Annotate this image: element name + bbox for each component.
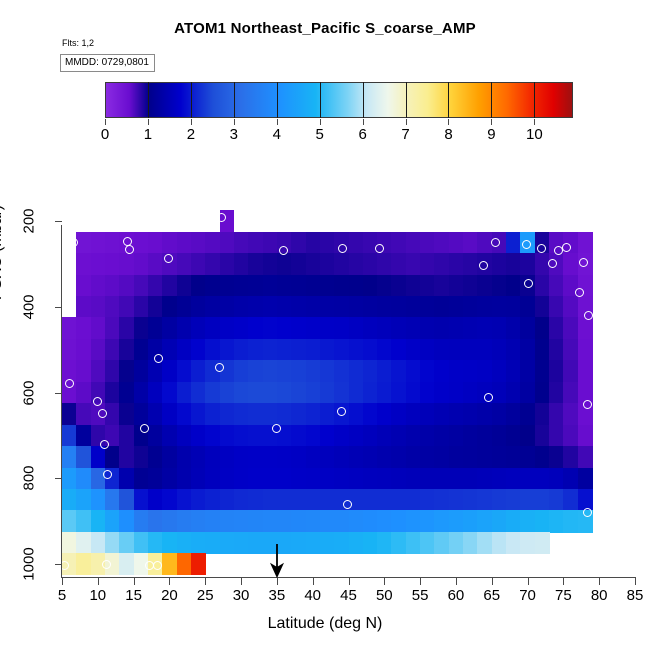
observation-marker [154, 354, 163, 363]
heatmap-cell [91, 360, 106, 382]
heatmap-cell [334, 382, 349, 404]
y-tick [55, 221, 62, 222]
heatmap-cell [62, 317, 77, 339]
heatmap-cell [105, 532, 120, 554]
heatmap-cell [477, 275, 492, 297]
heatmap-cell [234, 510, 249, 532]
y-tick-label: 200 [21, 198, 38, 244]
heatmap-cell [234, 403, 249, 425]
x-tick-label: 10 [89, 587, 106, 604]
heatmap-cell [420, 532, 435, 554]
heatmap-cell [91, 489, 106, 511]
heatmap-cell [363, 253, 378, 275]
heatmap-cell [349, 510, 364, 532]
heatmap-cell [506, 403, 521, 425]
heatmap-cell [434, 403, 449, 425]
heatmap-cell [234, 425, 249, 447]
heatmap-cell [363, 489, 378, 511]
heatmap-cell [578, 232, 593, 254]
heatmap-cell [520, 360, 535, 382]
heatmap-cell [306, 489, 321, 511]
x-tick [313, 578, 314, 585]
heatmap-cell [506, 425, 521, 447]
heatmap-cell [205, 446, 220, 468]
heatmap-cell [105, 510, 120, 532]
heatmap-cell [148, 360, 163, 382]
heatmap-cell [549, 360, 564, 382]
heatmap-cell [549, 489, 564, 511]
heatmap-cell [434, 425, 449, 447]
heatmap-cell [449, 382, 464, 404]
heatmap-cell [320, 403, 335, 425]
heatmap-cell [449, 446, 464, 468]
heatmap-cell [320, 360, 335, 382]
heatmap-cell [578, 425, 593, 447]
heatmap-cell [520, 425, 535, 447]
heatmap-cell [205, 489, 220, 511]
observation-marker [584, 311, 593, 320]
heatmap-cell [177, 553, 192, 575]
heatmap-cell [62, 532, 77, 554]
heatmap-cell [492, 253, 507, 275]
heatmap-cell [177, 275, 192, 297]
heatmap-cell [334, 296, 349, 318]
heatmap-cell [492, 532, 507, 554]
heatmap-cell [349, 403, 364, 425]
heatmap-cell [377, 532, 392, 554]
heatmap-cell [420, 296, 435, 318]
heatmap-cell [234, 253, 249, 275]
heatmap-cell [105, 317, 120, 339]
heatmap-cell [191, 446, 206, 468]
heatmap-cell [91, 317, 106, 339]
heatmap-cell [263, 296, 278, 318]
heatmap-cell [563, 296, 578, 318]
latitude-pointer-arrow [269, 544, 285, 578]
heatmap-cell [291, 232, 306, 254]
heatmap-cell [205, 532, 220, 554]
heatmap-cell [434, 446, 449, 468]
heatmap-cell [234, 360, 249, 382]
heatmap-cell [535, 489, 550, 511]
heatmap-cell [492, 382, 507, 404]
heatmap-cell [234, 489, 249, 511]
heatmap-cell [306, 446, 321, 468]
heatmap-cell [220, 510, 235, 532]
heatmap-cell [477, 317, 492, 339]
heatmap-cell [520, 339, 535, 361]
heatmap-cell [391, 382, 406, 404]
heatmap-cell [377, 339, 392, 361]
heatmap-cell [434, 468, 449, 490]
heatmap-cell [406, 232, 421, 254]
heatmap-cell [535, 339, 550, 361]
heatmap-cell [563, 339, 578, 361]
heatmap-cell [535, 275, 550, 297]
heatmap-cell [549, 275, 564, 297]
heatmap-cell [291, 468, 306, 490]
heatmap-cell [492, 489, 507, 511]
heatmap-cell [220, 253, 235, 275]
heatmap-cell [119, 553, 134, 575]
heatmap-cell [119, 403, 134, 425]
heatmap-cell [91, 232, 106, 254]
heatmap-cell [363, 425, 378, 447]
heatmap-cell [306, 232, 321, 254]
heatmap-cell [492, 339, 507, 361]
x-tick-label: 20 [161, 587, 178, 604]
heatmap-cell [263, 339, 278, 361]
heatmap-cell [406, 468, 421, 490]
heatmap-cell [191, 425, 206, 447]
y-axis-title: PSXC (mbar) [0, 205, 6, 300]
heatmap-cell [105, 446, 120, 468]
heatmap-cell [76, 232, 91, 254]
heatmap-cell [320, 253, 335, 275]
heatmap-cell [506, 468, 521, 490]
heatmap-cell [449, 532, 464, 554]
heatmap-cell [148, 532, 163, 554]
heatmap-cell [134, 253, 149, 275]
x-tick-label: 30 [233, 587, 250, 604]
heatmap-cell [91, 253, 106, 275]
heatmap-cell [76, 339, 91, 361]
heatmap-cell [205, 253, 220, 275]
heatmap-cell [105, 232, 120, 254]
observation-marker [69, 238, 78, 247]
heatmap-cell [306, 275, 321, 297]
heatmap-cell [320, 296, 335, 318]
heatmap-cell [449, 360, 464, 382]
heatmap-cell [320, 510, 335, 532]
heatmap-cell [578, 446, 593, 468]
heatmap-cell [406, 339, 421, 361]
heatmap-cell [563, 253, 578, 275]
heatmap-cell [349, 296, 364, 318]
heatmap-cell [549, 468, 564, 490]
heatmap-cell [420, 446, 435, 468]
heatmap-cell [420, 232, 435, 254]
heatmap-cell [148, 275, 163, 297]
observation-marker [375, 244, 384, 253]
y-tick [55, 478, 62, 479]
heatmap-cell [434, 489, 449, 511]
heatmap-cell [306, 403, 321, 425]
heatmap-cell [119, 339, 134, 361]
heatmap-cell [62, 446, 77, 468]
heatmap-cell [449, 296, 464, 318]
heatmap-cell [434, 510, 449, 532]
heatmap-cell [477, 446, 492, 468]
heatmap-cell [349, 468, 364, 490]
heatmap-cell [320, 382, 335, 404]
observation-marker [164, 254, 173, 263]
heatmap-cell [535, 468, 550, 490]
heatmap-cell [391, 253, 406, 275]
heatmap-cell [177, 232, 192, 254]
heatmap-cell [506, 296, 521, 318]
heatmap-cell [449, 468, 464, 490]
observation-marker [579, 258, 588, 267]
heatmap-cell [492, 275, 507, 297]
heatmap-cell [220, 532, 235, 554]
heatmap-cell [119, 317, 134, 339]
heatmap-cell [76, 360, 91, 382]
heatmap-cell [177, 468, 192, 490]
heatmap-cell [191, 275, 206, 297]
heatmap-cell [463, 468, 478, 490]
heatmap-cell [162, 510, 177, 532]
heatmap-cell [391, 275, 406, 297]
heatmap-cell [248, 446, 263, 468]
heatmap-cell [477, 425, 492, 447]
heatmap-cell [134, 317, 149, 339]
x-tick-label: 50 [376, 587, 393, 604]
heatmap-cell [492, 360, 507, 382]
heatmap-cell [191, 553, 206, 575]
heatmap-cell [463, 339, 478, 361]
heatmap-cell [391, 360, 406, 382]
heatmap-cell [162, 425, 177, 447]
heatmap-cell [277, 468, 292, 490]
heatmap-cell [191, 317, 206, 339]
heatmap-cell [263, 489, 278, 511]
heatmap-cell [463, 510, 478, 532]
heatmap-cell [162, 275, 177, 297]
heatmap-cell [406, 532, 421, 554]
heatmap-cell [349, 382, 364, 404]
heatmap-cell [420, 425, 435, 447]
heatmap-cell [463, 253, 478, 275]
x-tick [492, 578, 493, 585]
heatmap-cell [463, 425, 478, 447]
heatmap-cell [205, 232, 220, 254]
heatmap-cell [563, 360, 578, 382]
heatmap-cell [277, 296, 292, 318]
heatmap-cell [191, 489, 206, 511]
y-tick-label: 800 [21, 455, 38, 501]
heatmap-cell [263, 468, 278, 490]
x-tick-label: 55 [412, 587, 429, 604]
heatmap-cell [477, 510, 492, 532]
heatmap-cell [234, 468, 249, 490]
heatmap-cell [263, 382, 278, 404]
heatmap-cell [76, 553, 91, 575]
heatmap-cell [291, 339, 306, 361]
heatmap-cell [463, 446, 478, 468]
heatmap-cell [220, 382, 235, 404]
heatmap-cell [119, 510, 134, 532]
heatmap-cell [549, 403, 564, 425]
heatmap-cell [277, 360, 292, 382]
heatmap-cell [234, 532, 249, 554]
heatmap-cell [349, 339, 364, 361]
heatmap-cell [406, 489, 421, 511]
observation-marker [103, 470, 112, 479]
heatmap-cell [191, 532, 206, 554]
heatmap-cell [76, 446, 91, 468]
x-tick [635, 578, 636, 585]
heatmap-cell [320, 446, 335, 468]
heatmap-cell [535, 403, 550, 425]
heatmap-cell [334, 510, 349, 532]
heatmap-cell [277, 339, 292, 361]
heatmap-cell [148, 446, 163, 468]
heatmap-cell [463, 532, 478, 554]
heatmap-cell [334, 360, 349, 382]
heatmap-cell [506, 360, 521, 382]
heatmap-cell [191, 253, 206, 275]
heatmap-cell [91, 339, 106, 361]
heatmap-cell [277, 403, 292, 425]
heatmap-cell [520, 253, 535, 275]
heatmap-cell [134, 446, 149, 468]
heatmap-cell [76, 532, 91, 554]
heatmap-cell [220, 275, 235, 297]
heatmap-cell [463, 296, 478, 318]
heatmap-cell [248, 253, 263, 275]
heatmap-cell [477, 360, 492, 382]
heatmap-cell [119, 468, 134, 490]
x-tick-label: 75 [555, 587, 572, 604]
heatmap-cell [520, 296, 535, 318]
heatmap-cell [177, 403, 192, 425]
heatmap-cell [91, 275, 106, 297]
heatmap-cell [520, 468, 535, 490]
heatmap-cell [191, 403, 206, 425]
heatmap-cell [205, 510, 220, 532]
heatmap-cell [349, 232, 364, 254]
heatmap-cell [162, 339, 177, 361]
heatmap-cell [506, 317, 521, 339]
heatmap-cell [320, 532, 335, 554]
chart-root: ATOM1 Northeast_Pacific S_coarse_AMP Flt… [0, 0, 650, 650]
heatmap-cell [463, 317, 478, 339]
heatmap-cell [234, 275, 249, 297]
x-tick-label: 25 [197, 587, 214, 604]
heatmap-cell [162, 553, 177, 575]
heatmap-cell [334, 425, 349, 447]
heatmap-cell [492, 317, 507, 339]
heatmap-cell [377, 468, 392, 490]
heatmap-cell [406, 275, 421, 297]
heatmap-cell [334, 253, 349, 275]
heatmap-cell [177, 296, 192, 318]
x-tick-label: 70 [519, 587, 536, 604]
heatmap-cell [434, 360, 449, 382]
y-tick [55, 564, 62, 565]
heatmap-cell [535, 446, 550, 468]
heatmap-cell [449, 489, 464, 511]
heatmap-cell [363, 403, 378, 425]
heatmap-cell [363, 382, 378, 404]
heatmap-cell [420, 382, 435, 404]
y-tick [55, 393, 62, 394]
heatmap-cell [263, 232, 278, 254]
heatmap-cell [391, 510, 406, 532]
heatmap-cell [463, 232, 478, 254]
heatmap-cell [306, 510, 321, 532]
heatmap-cell [105, 360, 120, 382]
heatmap-cell [434, 382, 449, 404]
heatmap-cell [177, 317, 192, 339]
heatmap-cell [234, 317, 249, 339]
heatmap-cell [506, 253, 521, 275]
heatmap-cell [563, 403, 578, 425]
heatmap-cell [406, 296, 421, 318]
heatmap-cell [248, 275, 263, 297]
x-tick-label: 15 [125, 587, 142, 604]
heatmap-cell [520, 510, 535, 532]
heatmap-cell [434, 275, 449, 297]
heatmap-cell [406, 317, 421, 339]
heatmap-cell [205, 382, 220, 404]
heatmap-cell [291, 532, 306, 554]
heatmap-cell [162, 468, 177, 490]
heatmap-cell [62, 339, 77, 361]
heatmap-cell [177, 382, 192, 404]
heatmap-cell [205, 403, 220, 425]
heatmap-cell [76, 510, 91, 532]
heatmap-cell [377, 317, 392, 339]
heatmap-cell [391, 489, 406, 511]
heatmap-cell [377, 446, 392, 468]
heatmap-cell [277, 489, 292, 511]
heatmap-cell [320, 339, 335, 361]
heatmap-cell [434, 339, 449, 361]
y-tick [55, 307, 62, 308]
x-tick [169, 578, 170, 585]
heatmap-cell [248, 296, 263, 318]
heatmap-cell [477, 468, 492, 490]
heatmap-cell [406, 446, 421, 468]
heatmap-cell [119, 296, 134, 318]
heatmap-cell [248, 489, 263, 511]
heatmap-cell [535, 510, 550, 532]
heatmap-cell [434, 253, 449, 275]
heatmap-cell [334, 339, 349, 361]
heatmap-cell [463, 403, 478, 425]
heatmap-cell [377, 425, 392, 447]
heatmap-cell [234, 382, 249, 404]
heatmap-cell [320, 275, 335, 297]
heatmap-cell [320, 232, 335, 254]
heatmap-cell [492, 510, 507, 532]
heatmap-cell [406, 425, 421, 447]
heatmap-cell [477, 403, 492, 425]
heatmap-cell [205, 468, 220, 490]
heatmap-cell [162, 296, 177, 318]
y-tick-label: 400 [21, 284, 38, 330]
heatmap-cell [391, 468, 406, 490]
heatmap-cell [291, 489, 306, 511]
observation-marker [93, 397, 102, 406]
heatmap-cell [363, 317, 378, 339]
heatmap-cell [76, 489, 91, 511]
x-tick [563, 578, 564, 585]
heatmap-cell [349, 425, 364, 447]
x-tick [528, 578, 529, 585]
heatmap-cell [363, 275, 378, 297]
heatmap-cell [463, 275, 478, 297]
heatmap-cell [563, 510, 578, 532]
x-tick [134, 578, 135, 585]
heatmap-cell [492, 425, 507, 447]
heatmap-cell [420, 253, 435, 275]
heatmap-cell [391, 403, 406, 425]
heatmap-cell [578, 360, 593, 382]
heatmap-cell [391, 532, 406, 554]
